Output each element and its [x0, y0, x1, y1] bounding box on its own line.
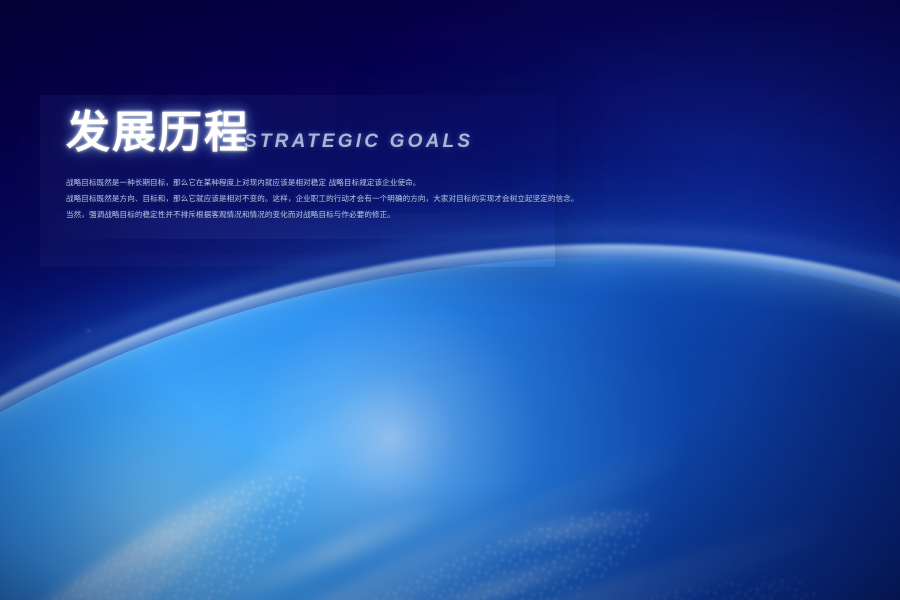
- page-title-en: STRATEGIC GOALS: [244, 131, 473, 153]
- body-line: 战略目标既然是一种长期目标，那么它在某种程度上对现内就应该是相对稳定 战略目标规…: [66, 175, 545, 191]
- strategic-goals-banner: 发展历程 STRATEGIC GOALS 战略目标既然是一种长期目标，那么它在某…: [0, 0, 900, 600]
- body-line: 战略目标既然是方向、目标和，那么它就应该是相对不变的。这样，企业职工的行动才会有…: [66, 191, 545, 207]
- content-panel: 发展历程 STRATEGIC GOALS 战略目标既然是一种长期目标，那么它在某…: [40, 95, 555, 267]
- body-line: 当然，强调战略目标的稳定性并不排斥根据客观情况和情况的变化而对战略目标与作必要的…: [66, 207, 545, 223]
- panel-content: 发展历程 STRATEGIC GOALS 战略目标既然是一种长期目标，那么它在某…: [66, 111, 545, 223]
- page-title: 发展历程 STRATEGIC GOALS: [66, 111, 545, 155]
- page-title-cn: 发展历程: [66, 111, 250, 155]
- body-copy: 战略目标既然是一种长期目标，那么它在某种程度上对现内就应该是相对稳定 战略目标规…: [66, 175, 545, 223]
- star-icon: [88, 330, 89, 331]
